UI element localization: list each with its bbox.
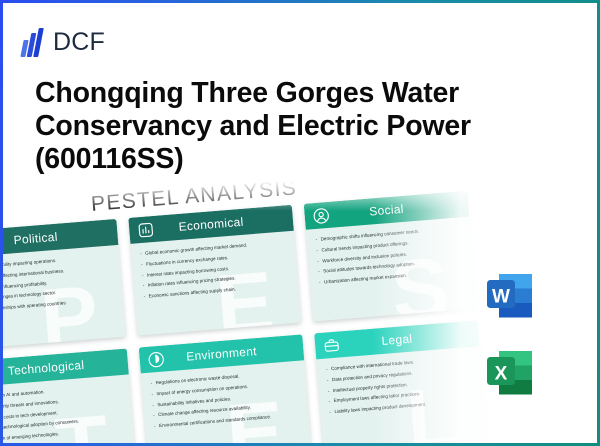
spacer [443, 196, 461, 214]
svg-text:X: X [495, 364, 508, 385]
spacer [92, 224, 110, 242]
pestel-card-technological[interactable]: Technological T Advances in AI and autom… [3, 348, 136, 443]
pestel-card-political[interactable]: Political P Government stability impacti… [3, 219, 126, 350]
page-canvas: DCF Chongqing Three Gorges Water Conserv… [3, 3, 597, 443]
pestel-card-environment[interactable]: Environment E Regulations on electronic … [139, 334, 312, 443]
spacer [267, 210, 285, 228]
pestel-card-social[interactable]: Social S Demographic shifts influencing … [304, 191, 477, 322]
pestel-card-legal[interactable]: Legal L Compliance with international tr… [314, 320, 487, 443]
bar-chart-logo-icon [21, 28, 44, 58]
list-item: Political relationships with operating c… [3, 297, 114, 313]
list-item: Integration of emerging technologies. [3, 427, 124, 443]
pestel-card-economical[interactable]: Economical E Global economic growth affe… [128, 205, 301, 336]
microsoft-word-icon[interactable]: W [481, 271, 538, 328]
card-title: Political [3, 228, 93, 249]
spacer [278, 339, 296, 357]
card-title: Legal [340, 329, 455, 350]
person-icon [312, 206, 330, 224]
page-frame: DCF Chongqing Three Gorges Water Conserv… [0, 0, 600, 446]
card-bullet-list: Demographic shifts influencing consumer … [306, 217, 475, 299]
brand-logo[interactable]: DCF [21, 26, 105, 60]
card-title: Social [329, 200, 444, 221]
card-title: Technological [3, 357, 103, 378]
pestel-card-grid: Political P Government stability impacti… [3, 191, 487, 443]
spacer [102, 354, 120, 372]
card-bullet-list: Advances in AI and automation. Cybersecu… [3, 374, 134, 443]
card-bullet-list: Government stability impacting operation… [3, 245, 124, 327]
page-title: Chongqing Three Gorges Water Conservancy… [35, 77, 527, 176]
card-bullet-list: Global economic growth affecting market … [130, 231, 299, 313]
card-title: Economical [154, 214, 269, 235]
svg-text:W: W [492, 287, 510, 308]
pestel-board: PESTEL ANALYSIS Political [3, 181, 488, 443]
card-title: Environment [164, 343, 279, 364]
brand-name: DCF [53, 30, 105, 57]
spacer [453, 325, 471, 343]
briefcase-icon [322, 336, 340, 354]
card-bullet-list: Compliance with international trade laws… [316, 346, 485, 428]
leaf-icon [147, 350, 165, 368]
bar-chart-icon [137, 220, 155, 238]
microsoft-excel-icon[interactable]: X [481, 348, 538, 405]
card-bullet-list: Regulations on electronic waste disposal… [141, 360, 310, 442]
